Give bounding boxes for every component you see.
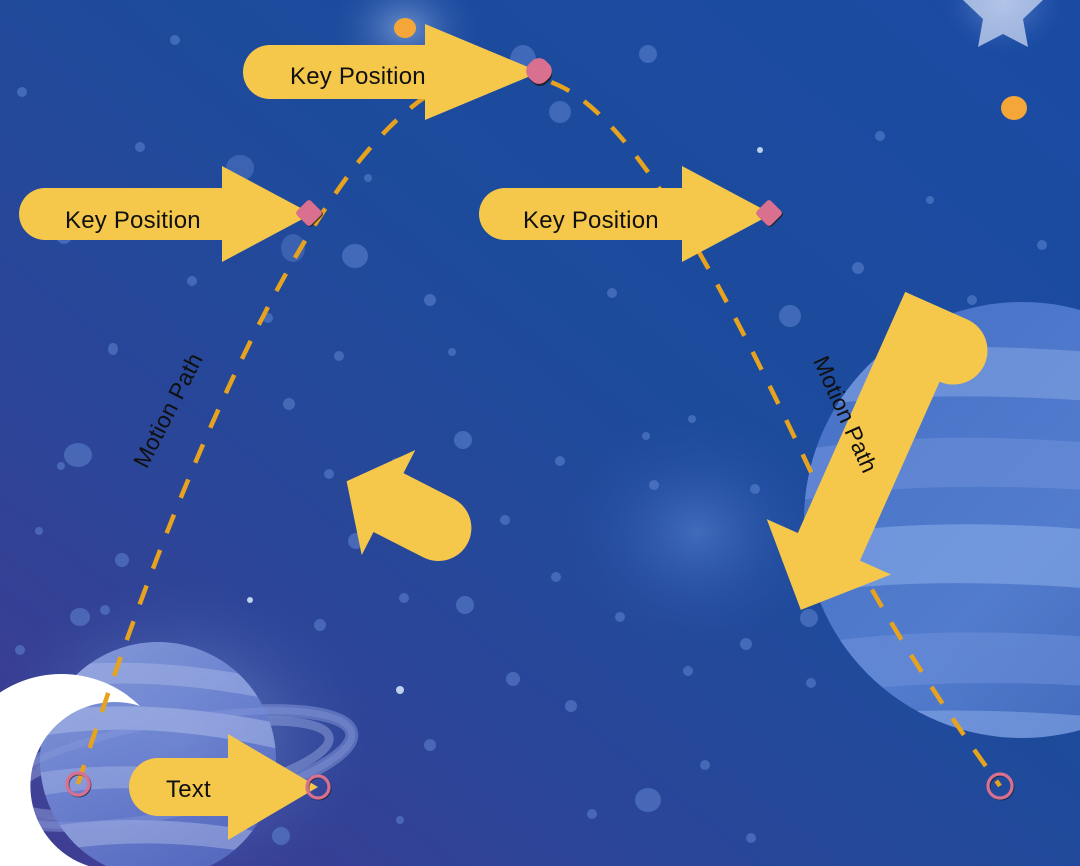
motion-path-diagram: Key Position Key Position Key Position M…	[0, 0, 1080, 866]
orange-dot-right	[1001, 96, 1027, 120]
diagram-canvas	[0, 0, 1080, 866]
orange-dot-top	[394, 18, 416, 38]
